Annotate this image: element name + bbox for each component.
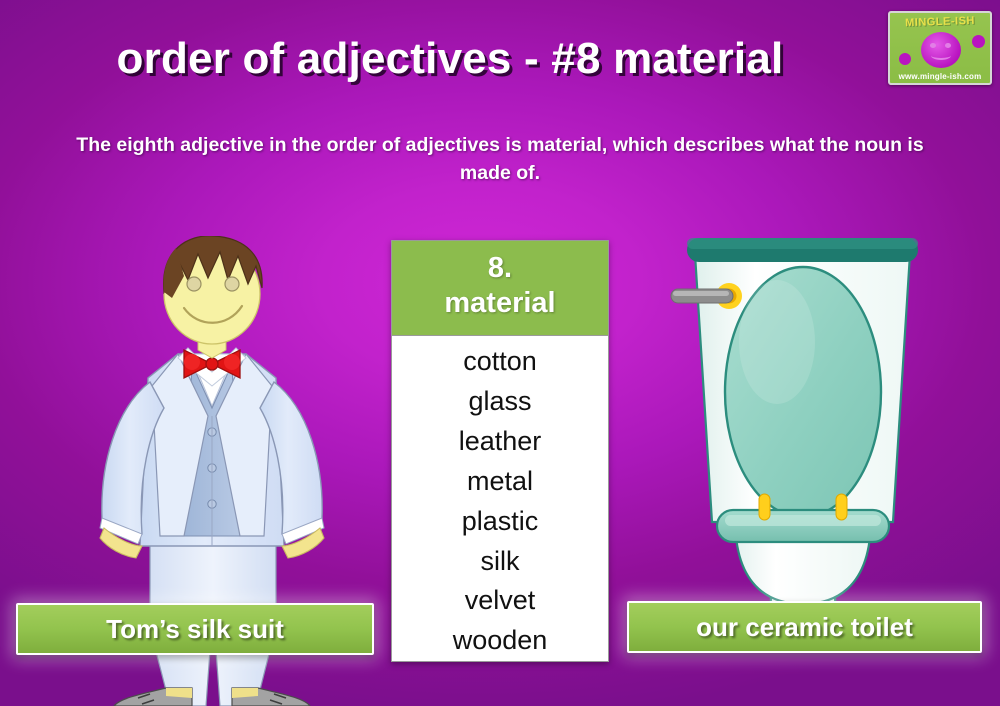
example-banner-right[interactable]: our ceramic toilet <box>627 601 982 653</box>
example-label-right: our ceramic toilet <box>696 612 913 643</box>
smiley-eye-icon <box>945 43 951 48</box>
list-item: metal <box>392 462 608 502</box>
category-name: material <box>392 286 608 321</box>
list-item: plastic <box>392 502 608 542</box>
page-title: order of adjectives - #8 material <box>0 34 900 84</box>
adjective-category-panel: 8. material cotton glass leather metal p… <box>391 240 609 662</box>
lesson-description: The eighth adjective in the order of adj… <box>55 132 945 187</box>
material-word-list: cotton glass leather metal plastic silk … <box>392 342 608 662</box>
list-item: wooden <box>392 621 608 661</box>
logo-brand-text: MINGLE-ISH <box>890 14 990 29</box>
brand-logo: MINGLE-ISH www.mingle-ish.com <box>888 11 992 85</box>
ceramic-toilet-illustration <box>655 232 950 632</box>
list-item: cotton <box>392 342 608 382</box>
list-item: silk <box>392 542 608 582</box>
slide-root: order of adjectives - #8 material MINGLE… <box>0 0 1000 706</box>
smiley-mouth-icon <box>931 51 951 60</box>
smiley-face-icon <box>921 32 961 68</box>
logo-dot-icon <box>972 35 985 48</box>
list-item: velvet <box>392 581 608 621</box>
logo-url-text: www.mingle-ish.com <box>890 72 990 81</box>
panel-header: 8. material <box>392 241 608 336</box>
panel-body: cotton glass leather metal plastic silk … <box>392 336 608 662</box>
list-item: leather <box>392 422 608 462</box>
example-label-left: Tom’s silk suit <box>106 614 284 645</box>
smiley-eye-icon <box>930 43 936 48</box>
category-number: 8. <box>392 251 608 286</box>
example-banner-left[interactable]: Tom’s silk suit <box>16 603 374 655</box>
logo-dot-icon <box>899 53 911 65</box>
list-item: glass <box>392 382 608 422</box>
